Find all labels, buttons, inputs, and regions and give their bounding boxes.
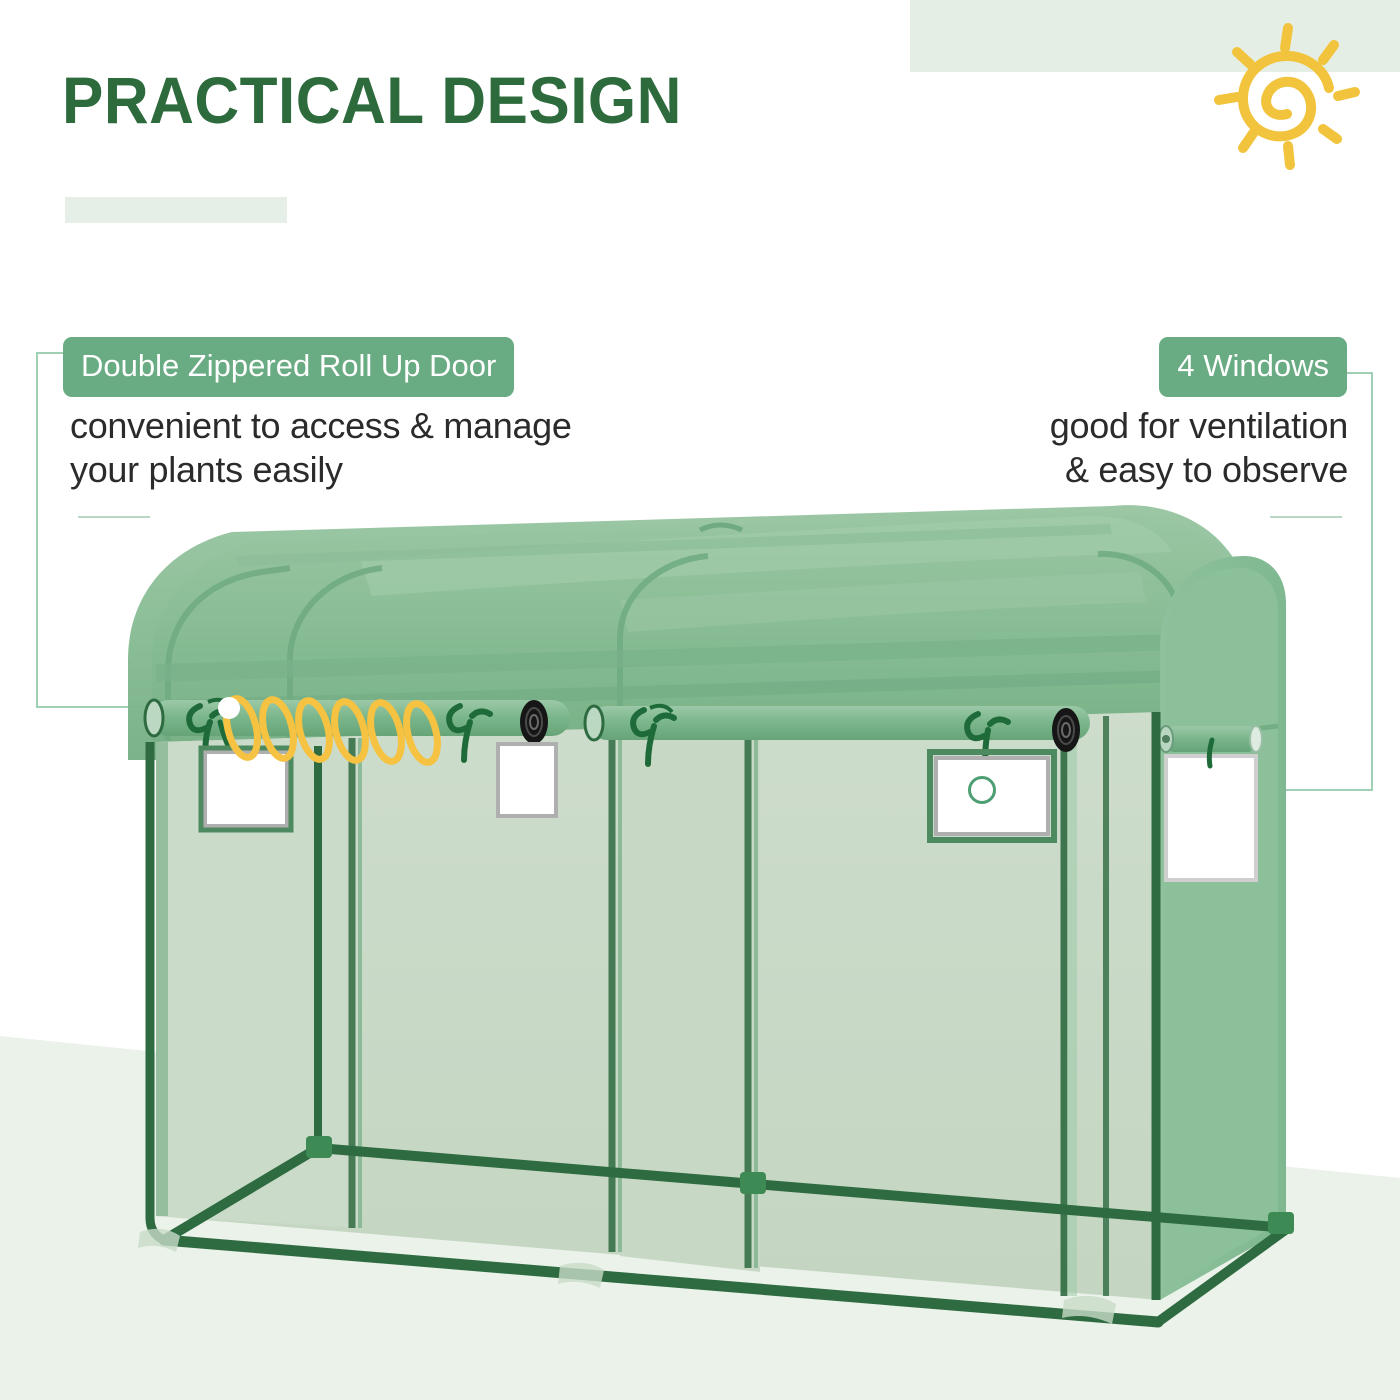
greenhouse-window-2 [498, 744, 556, 816]
window-marker-ring [968, 776, 996, 804]
greenhouse-right-end-panel [1160, 556, 1286, 1300]
infographic-canvas: PRACTICAL DESIGN Double Zippered Roll Up… [0, 0, 1400, 1400]
door-marker-dot [218, 697, 240, 719]
greenhouse-window-4 [1166, 756, 1256, 880]
zipper-roll-left [520, 700, 548, 744]
greenhouse-illustration [0, 0, 1400, 1400]
zipper-roll-right [1052, 708, 1080, 752]
rolled-door-right [585, 706, 1090, 740]
